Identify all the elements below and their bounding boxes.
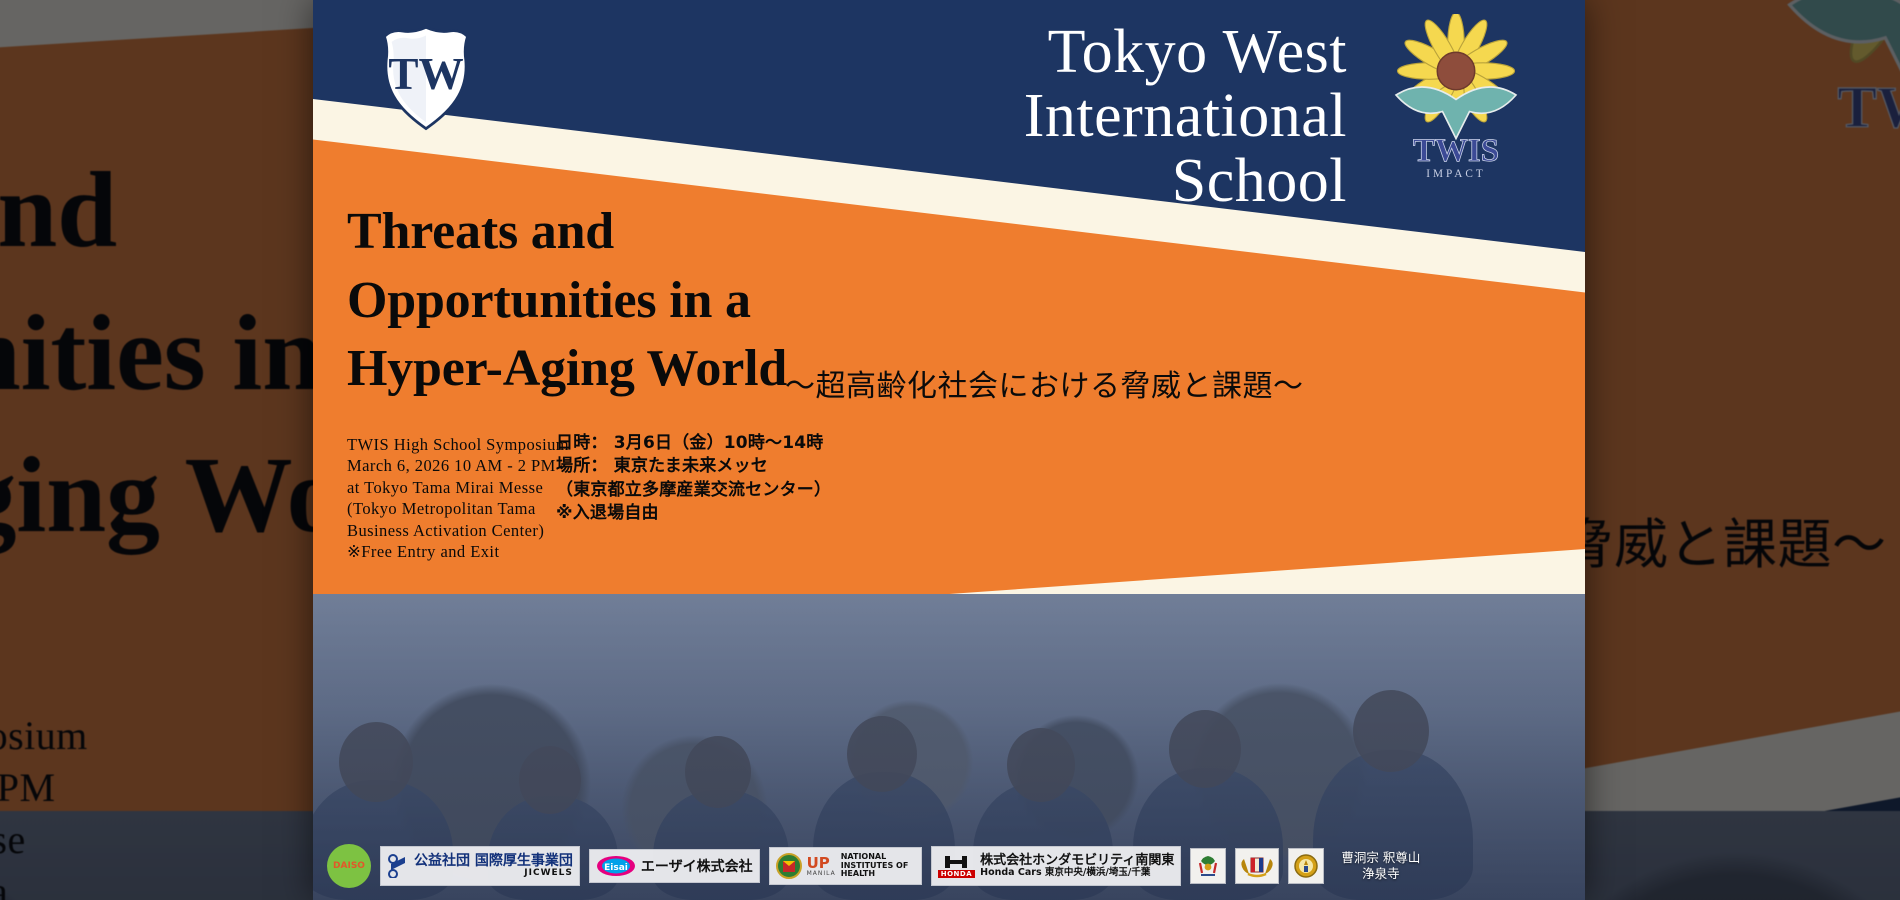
up-manila-sub: MANILA (807, 871, 836, 877)
sponsor-up-manila-nih: UP MANILA NATIONAL INSTITUTES OF HEALTH (769, 847, 922, 885)
honda-wordmark: HONDA (938, 870, 975, 878)
sponsor-crest-malaysia (1235, 848, 1279, 884)
honda-cars-sub: Honda Cars 東京中央/横浜/埼玉/千葉 (980, 868, 1174, 878)
sponsor-josenji-temple: 曹洞宗 釈尊山 浄泉寺 (1341, 850, 1420, 881)
twis-impact-logo: TWIS IMPACT (1381, 14, 1531, 182)
sponsor-jicwels: 公益社団 国際厚生事業団 JICWELS (380, 846, 580, 886)
sponsor-daiso-badge: DAISO (327, 844, 371, 888)
detail-en-venue-sub1: (Tokyo Metropolitan Tama (347, 498, 569, 519)
school-name: Tokyo West International School (527, 20, 1347, 213)
detail-en-venue: at Tokyo Tama Mirai Messe (347, 477, 569, 498)
title-line-3: Hyper-Aging World (347, 335, 787, 404)
sponsor-honda-mobility: HONDA 株式会社ホンダモビリティ南関東 Honda Cars 東京中央/横浜… (931, 846, 1182, 886)
main-poster: TW Tokyo West International School (313, 0, 1585, 900)
honda-mobility-name: 株式会社ホンダモビリティ南関東 (980, 854, 1174, 868)
sponsor-crest-1 (1190, 848, 1226, 884)
svg-text:IMPACT: IMPACT (1426, 168, 1485, 180)
government-seal-icon (1293, 853, 1319, 879)
malaysia-coat-of-arms-icon (1238, 853, 1276, 879)
event-details-en: TWIS High School Symposium March 6, 2026… (347, 434, 569, 563)
title-line-2: Opportunities in a (347, 267, 787, 336)
detail-jp-free-entry: ※入退場自由 (556, 502, 831, 525)
detail-en-free-entry: ※Free Entry and Exit (347, 541, 569, 562)
school-name-line1: Tokyo West (527, 20, 1347, 84)
event-details-jp: 日時： 3月6日（金）10時〜14時 場所： 東京たま未来メッセ （東京都立多摩… (556, 432, 831, 526)
honda-h-icon (943, 855, 969, 869)
temple-line1: 曹洞宗 釈尊山 (1341, 850, 1420, 866)
detail-en-symposium: TWIS High School Symposium (347, 434, 569, 455)
title-line-1: Threats and (347, 198, 787, 267)
jicwels-mark-icon (387, 854, 409, 878)
detail-en-venue-sub2: Business Activation Center) (347, 520, 569, 541)
jicwels-name: 公益社団 国際厚生事業団 (414, 854, 573, 869)
eisai-name: エーザイ株式会社 (641, 856, 753, 876)
sponsor-crest-3 (1288, 848, 1324, 884)
up-manila-seal-icon (776, 853, 802, 879)
crest-emblem-icon (1195, 853, 1221, 879)
poster-title: Threats and Opportunities in a Hyper-Agi… (347, 198, 787, 404)
sponsor-eisai: Eisai エーザイ株式会社 (589, 849, 760, 883)
svg-text:Eisai: Eisai (604, 863, 628, 873)
nih-name: NATIONAL INSTITUTES OF HEALTH (841, 853, 915, 880)
daiso-badge-label: DAISO (333, 861, 365, 871)
detail-jp-venue: 場所： 東京たま未来メッセ (556, 455, 831, 478)
detail-en-date: March 6, 2026 10 AM - 2 PM (347, 455, 569, 476)
poster-viewer: Tokyo West International School Threats … (0, 0, 1900, 900)
poster-subtitle-jp: ～超高齢化社会における脅威と課題～ (785, 361, 1304, 405)
eisai-mark-icon: Eisai (596, 855, 636, 877)
school-name-line2: International (527, 84, 1347, 148)
tw-shield-icon: TW (370, 22, 482, 134)
jicwels-sub: JICWELS (414, 869, 573, 878)
temple-line2: 浄泉寺 (1341, 866, 1420, 882)
sponsor-row: DAISO 公益社団 国際厚生事業団 JICWELS Eisai (327, 844, 1420, 888)
svg-text:TW: TW (388, 49, 463, 99)
detail-jp-datetime: 日時： 3月6日（金）10時〜14時 (556, 432, 831, 455)
svg-text:TWIS: TWIS (1413, 133, 1499, 169)
detail-jp-venue-sub: （東京都立多摩産業交流センター） (556, 479, 831, 502)
up-mark: UP (807, 856, 836, 871)
